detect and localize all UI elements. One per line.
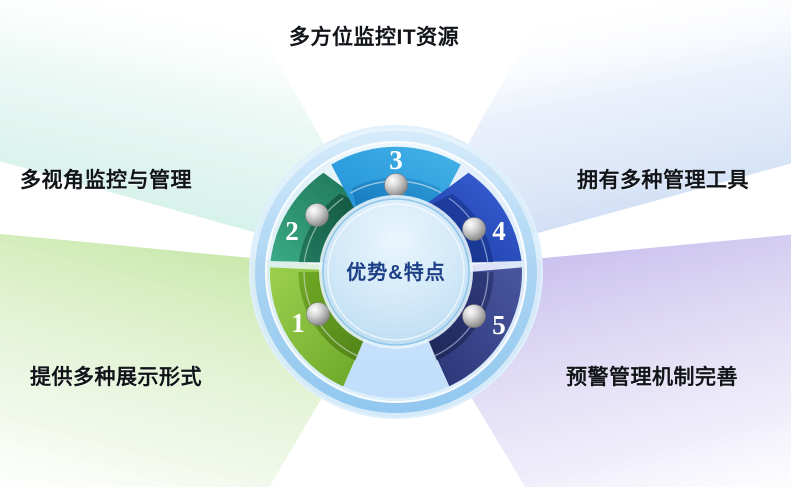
center-hub[interactable]: 优势&特点: [319, 195, 473, 349]
label-right-lower: 预警管理机制完善: [566, 367, 738, 388]
segment-2-node-icon: [306, 204, 329, 227]
label-left-lower: 提供多种展示形式: [30, 367, 202, 388]
segment-3-node-icon: [385, 174, 408, 197]
infographic-stage: 1 2 3 4: [0, 0, 791, 487]
label-left-upper: 多视角监控与管理: [20, 170, 192, 191]
segment-1-node-icon: [307, 303, 330, 326]
label-top: 多方位监控IT资源: [289, 27, 459, 48]
segment-2-number: 2: [285, 216, 299, 246]
segment-3-number: 3: [389, 145, 403, 175]
segment-5-number: 5: [492, 310, 506, 340]
segment-1-number: 1: [291, 308, 305, 338]
label-right-upper: 拥有多种管理工具: [577, 170, 749, 191]
segment-5-node-icon: [463, 305, 486, 328]
center-label: 优势&特点: [346, 260, 445, 284]
segment-4-number: 4: [492, 216, 506, 246]
segment-4-node-icon: [463, 218, 486, 241]
